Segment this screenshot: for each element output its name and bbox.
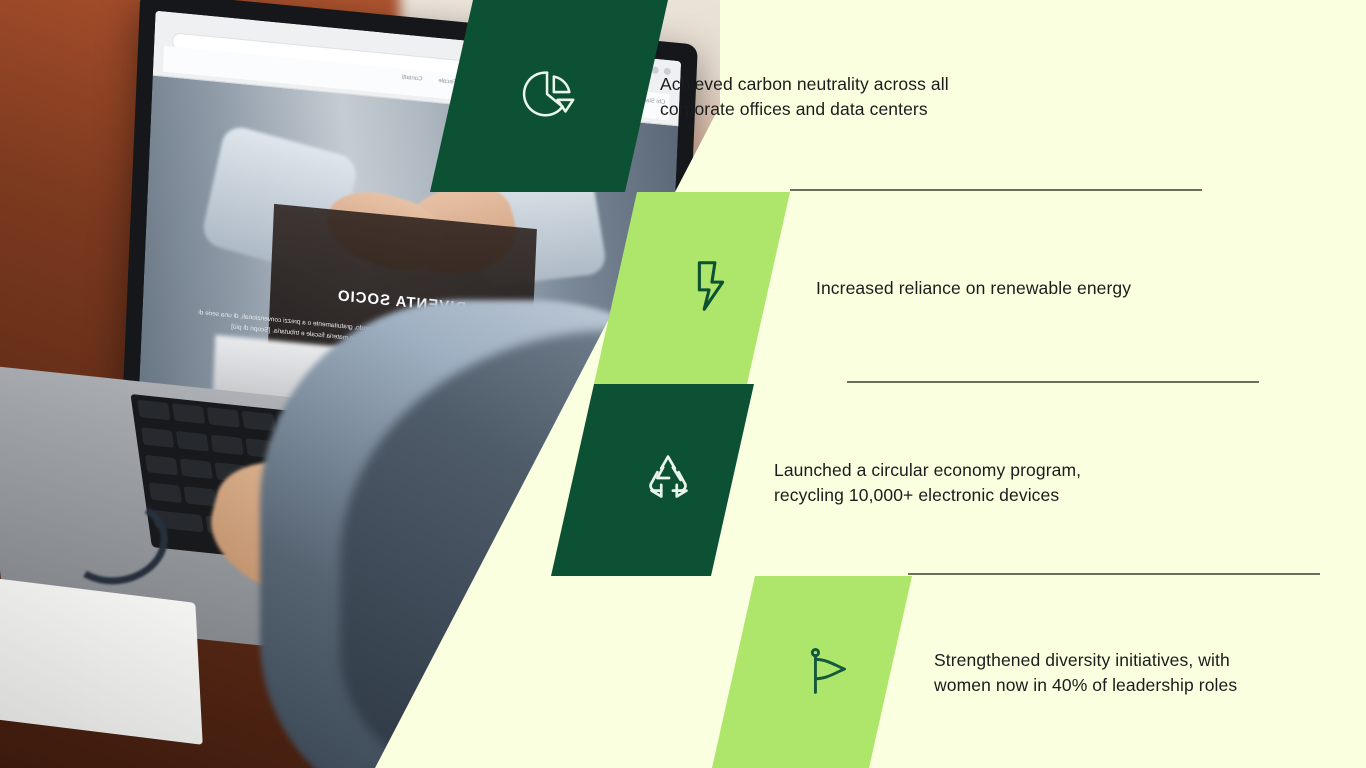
row-1-text: Achieved carbon neutrality across all co…: [660, 72, 949, 122]
pie-chart-icon: [517, 63, 579, 125]
row-1-line-2: corporate offices and data centers: [660, 97, 949, 122]
row-3-text: Launched a circular economy program, rec…: [774, 458, 1081, 508]
recycle-icon: [638, 448, 700, 510]
divider-2: [847, 381, 1259, 383]
lightning-bolt-icon: [680, 255, 742, 317]
row-2-text: Increased reliance on renewable energy: [816, 276, 1131, 301]
row-3-line-1: Launched a circular economy program,: [774, 458, 1081, 483]
flag-icon: [798, 640, 860, 702]
row-4-line-1: Strengthened diversity initiatives, with: [934, 648, 1237, 673]
row-1-line-1: Achieved carbon neutrality across all: [660, 72, 949, 97]
row-4-line-2: women now in 40% of leadership roles: [934, 673, 1237, 698]
divider-1: [790, 189, 1202, 191]
row-3-line-2: recycling 10,000+ electronic devices: [774, 483, 1081, 508]
row-4-text: Strengthened diversity initiatives, with…: [934, 648, 1237, 698]
slide-canvas: DIVENTA SOCIO Associarsi ad Agefis signi…: [0, 0, 1366, 768]
row-2-line-1: Increased reliance on renewable energy: [816, 276, 1131, 301]
divider-3: [908, 573, 1320, 575]
